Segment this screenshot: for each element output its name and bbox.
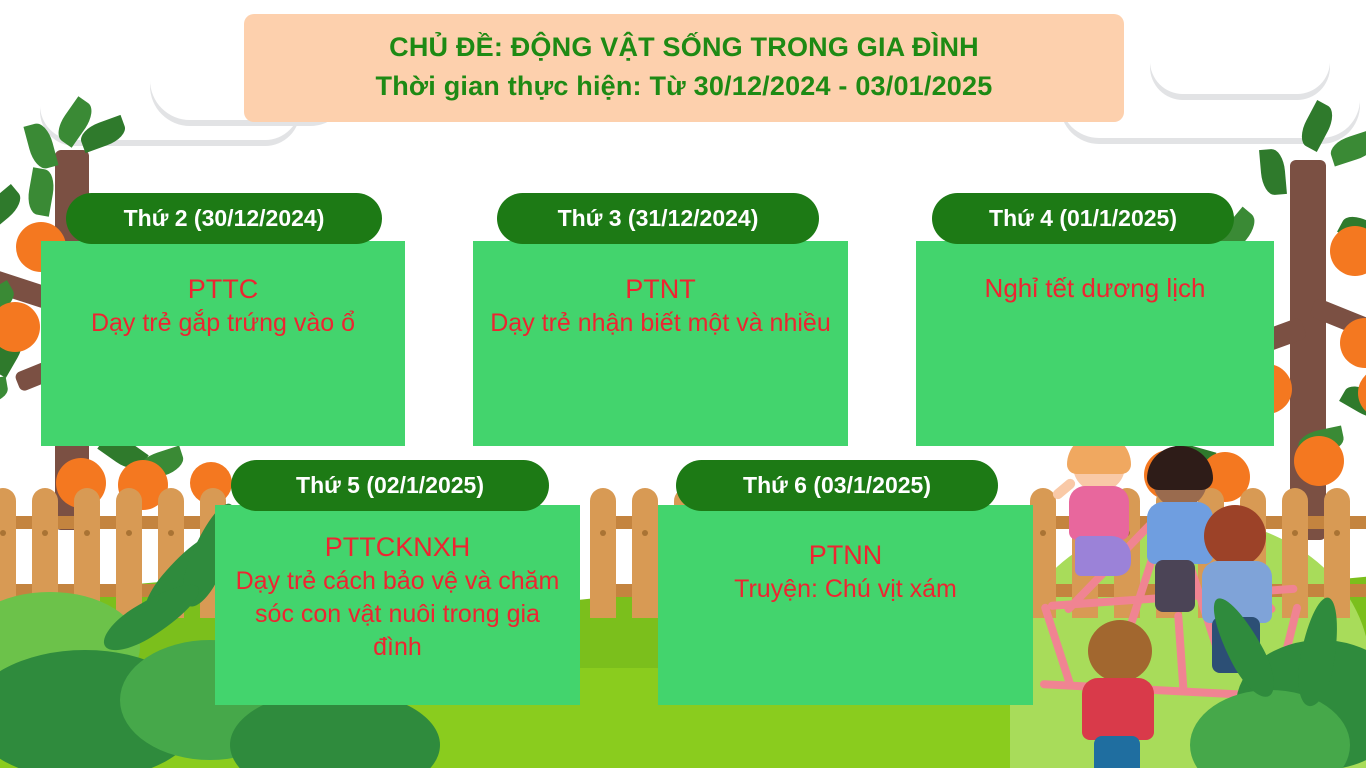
day-pill-thursday[interactable]: Thứ 5 (02/1/2025) [231,460,549,511]
day-code-friday: PTNN [672,537,1019,573]
day-desc-monday: Dạy trẻ gắp trứng vào ổ [55,307,391,340]
day-pill-tuesday[interactable]: Thứ 3 (31/12/2024) [497,193,819,244]
topic-period: Thời gian thực hiện: Từ 30/12/2024 - 03/… [254,67,1114,106]
topic-title: CHỦ ĐỀ: ĐỘNG VẬT SỐNG TRONG GIA ĐÌNH [254,28,1114,67]
day-body-thursday: PTTCKNXH Dạy trẻ cách bảo vệ và chăm sóc… [215,505,580,705]
day-body-monday: PTTC Dạy trẻ gắp trứng vào ổ [41,241,405,446]
day-desc-tuesday: Dạy trẻ nhận biết một và nhiều [487,307,834,340]
slide-content: CHỦ ĐỀ: ĐỘNG VẬT SỐNG TRONG GIA ĐÌNH Thờ… [0,0,1366,768]
day-code-thursday: PTTCKNXH [229,529,566,565]
day-pill-wednesday[interactable]: Thứ 4 (01/1/2025) [932,193,1234,244]
day-desc-wednesday: Nghỉ tết dương lịch [930,271,1260,305]
topic-banner: CHỦ ĐỀ: ĐỘNG VẬT SỐNG TRONG GIA ĐÌNH Thờ… [244,14,1124,122]
day-code-tuesday: PTNT [487,271,834,307]
day-pill-friday[interactable]: Thứ 6 (03/1/2025) [676,460,998,511]
day-desc-friday: Truyện: Chú vịt xám [672,573,1019,606]
day-body-friday: PTNN Truyện: Chú vịt xám [658,505,1033,705]
day-code-monday: PTTC [55,271,391,307]
day-body-tuesday: PTNT Dạy trẻ nhận biết một và nhiều [473,241,848,446]
weekly-plan-slide: CHỦ ĐỀ: ĐỘNG VẬT SỐNG TRONG GIA ĐÌNH Thờ… [0,0,1366,768]
day-desc-thursday: Dạy trẻ cách bảo vệ và chăm sóc con vật … [229,565,566,664]
day-pill-monday[interactable]: Thứ 2 (30/12/2024) [66,193,382,244]
day-body-wednesday: Nghỉ tết dương lịch [916,241,1274,446]
